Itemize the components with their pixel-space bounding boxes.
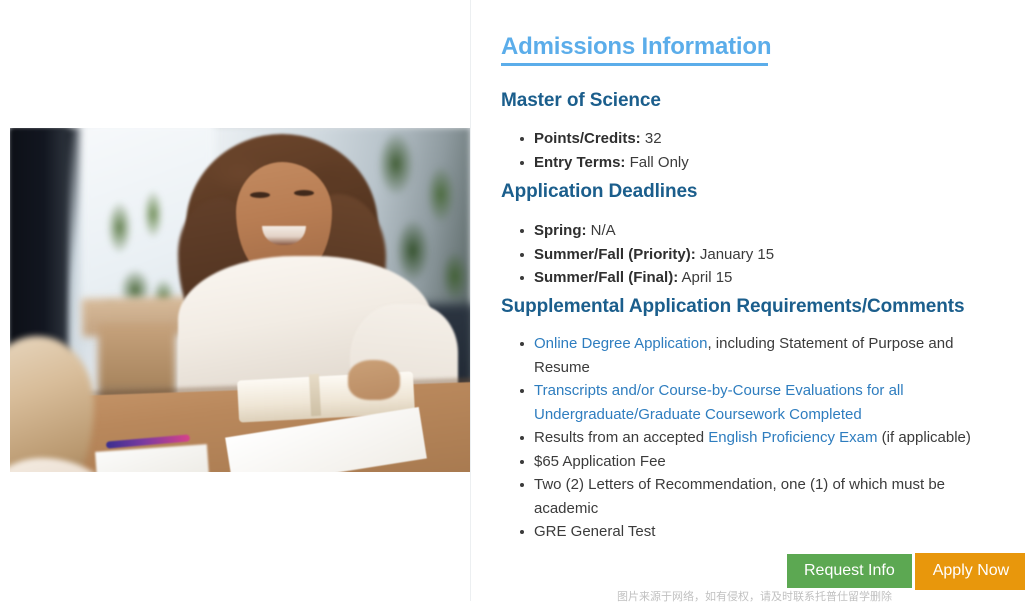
apply-now-button[interactable]: Apply Now (915, 553, 1025, 590)
deadline-value: April 15 (678, 269, 732, 286)
list-item: $65 Application Fee (501, 450, 1001, 474)
media-column (0, 0, 470, 601)
requirement-text: GRE General Test (534, 523, 655, 540)
list-item: Transcripts and/or Course-by-Course Eval… (501, 379, 1001, 426)
english-proficiency-exam-link[interactable]: English Proficiency Exam (708, 429, 877, 446)
deadline-list: Spring: N/A Summer/Fall (Priority): Janu… (501, 219, 1001, 290)
detail-label: Points/Credits: (534, 130, 641, 147)
list-item: Spring: N/A (501, 219, 1001, 243)
transcripts-evaluations-link[interactable]: Transcripts and/or Course-by-Course Eval… (534, 382, 904, 423)
requirement-text: $65 Application Fee (534, 453, 666, 470)
admissions-panel: Admissions Information Master of Science… (470, 0, 1025, 601)
deadline-label: Summer/Fall (Final): (534, 269, 678, 286)
deadline-value: N/A (587, 222, 616, 239)
requirement-text: Results from an accepted (534, 429, 708, 446)
photo-book-spine (309, 374, 321, 416)
photo-subject-hand (348, 360, 400, 400)
photo-subject-eye-left (250, 192, 270, 198)
supplemental-requirements-list: Online Degree Application, including Sta… (501, 332, 1001, 544)
photo-subject-eye-right (294, 190, 314, 196)
degree-detail-list: Points/Credits: 32 Entry Terms: Fall Onl… (501, 127, 1001, 174)
section-heading-deadlines: Application Deadlines (501, 181, 697, 203)
admissions-photo (10, 128, 470, 472)
online-degree-application-link[interactable]: Online Degree Application (534, 335, 707, 352)
detail-label: Entry Terms: (534, 154, 625, 171)
deadline-label: Summer/Fall (Priority): (534, 246, 696, 263)
deadline-value: January 15 (696, 246, 774, 263)
list-item: GRE General Test (501, 520, 1001, 544)
title-underline (501, 63, 768, 66)
cta-button-row: Request Info Apply Now (787, 554, 1025, 591)
source-watermark: 图片来源于网络，如有侵权，请及时联系托普仕留学删除 (617, 588, 892, 604)
list-item: Points/Credits: 32 (501, 127, 1001, 151)
list-item: Entry Terms: Fall Only (501, 151, 1001, 175)
detail-value: 32 (641, 130, 662, 147)
page-title: Admissions Information (501, 33, 771, 61)
list-item: Summer/Fall (Final): April 15 (501, 266, 1001, 290)
requirement-text: (if applicable) (878, 429, 971, 446)
list-item: Results from an accepted English Profici… (501, 426, 1001, 450)
list-item: Online Degree Application, including Sta… (501, 332, 1001, 379)
detail-value: Fall Only (625, 154, 688, 171)
list-item: Summer/Fall (Priority): January 15 (501, 243, 1001, 267)
section-heading-supplemental: Supplemental Application Requirements/Co… (501, 296, 964, 318)
requirement-text: Two (2) Letters of Recommendation, one (… (534, 476, 945, 517)
request-info-button[interactable]: Request Info (787, 554, 912, 588)
section-heading-degree: Master of Science (501, 90, 661, 112)
list-item: Two (2) Letters of Recommendation, one (… (501, 473, 1001, 520)
deadline-label: Spring: (534, 222, 587, 239)
